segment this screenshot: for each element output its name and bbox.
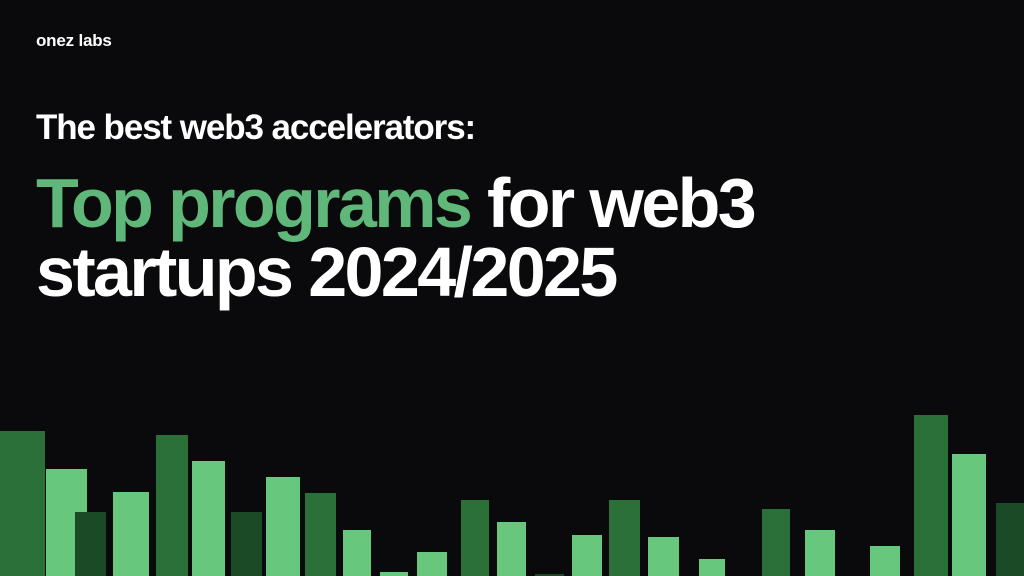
chart-bar: [805, 530, 835, 576]
chart-bar: [0, 431, 45, 576]
brand-wordmark: onez labs: [36, 32, 112, 49]
chart-bar: [572, 535, 602, 576]
slide-canvas: onez labs The best web3 accelerators: To…: [0, 0, 1024, 576]
chart-bar: [609, 500, 640, 576]
chart-bar: [497, 522, 526, 576]
chart-bar: [231, 512, 262, 576]
chart-bar: [952, 454, 986, 576]
headline-accent-text: Top programs: [36, 164, 470, 242]
chart-bar: [870, 546, 900, 576]
chart-bar: [762, 509, 790, 576]
chart-bar: [648, 537, 679, 576]
chart-bar: [380, 572, 408, 576]
chart-bar: [266, 477, 300, 576]
chart-bar: [192, 461, 225, 576]
page-title: Top programs for web3 startups 2024/2025: [36, 169, 984, 308]
eyebrow-text: The best web3 accelerators:: [36, 108, 984, 147]
headline-line-2: startups 2024/2025: [36, 238, 984, 307]
chart-bar: [417, 552, 447, 576]
chart-bar: [75, 512, 106, 576]
chart-bar: [113, 492, 149, 576]
headline-block: The best web3 accelerators: Top programs…: [36, 108, 984, 308]
chart-bar: [343, 530, 371, 576]
bar-chart: [0, 400, 1024, 576]
chart-bar: [461, 500, 489, 576]
chart-bar: [699, 559, 725, 576]
chart-bar: [914, 415, 948, 576]
chart-bar: [996, 503, 1024, 576]
headline-rest-text: for web3: [470, 164, 754, 242]
chart-bar: [305, 493, 336, 576]
chart-bar: [156, 435, 188, 576]
headline-line-1: Top programs for web3: [36, 169, 984, 238]
